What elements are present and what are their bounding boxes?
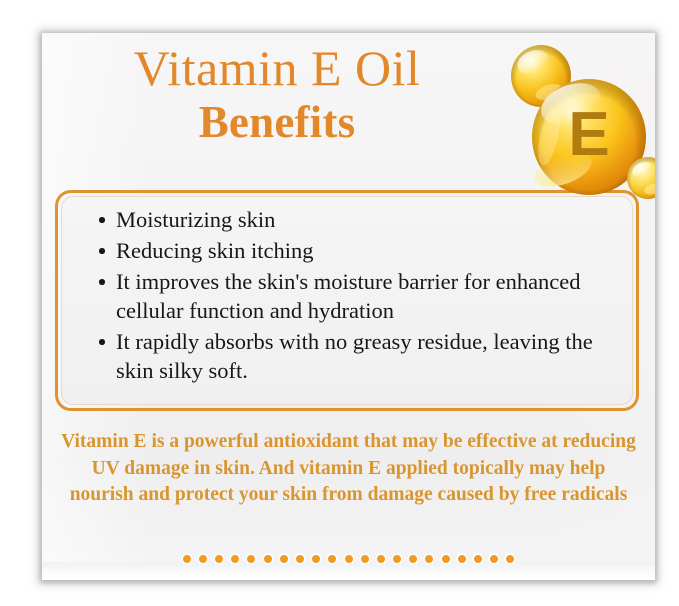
vitamin-e-droplet-icon: E [497,33,655,214]
divider-dot [215,555,223,563]
title-line-secondary: Benefits [42,97,512,147]
poster-title: Vitamin E Oil Benefits [42,39,512,147]
divider-dot [425,555,433,563]
poster-card: Vitamin E Oil Benefits [42,33,655,580]
divider-dot [231,555,239,563]
poster-stage: Vitamin E Oil Benefits [0,0,679,606]
divider-dot [199,555,207,563]
divider-dot [296,555,304,563]
divider-dot [264,555,272,563]
divider-dot [312,555,320,563]
capsule-letter: E [568,100,609,169]
divider-dot [328,555,336,563]
footer-paragraph: Vitamin E is a powerful antioxidant that… [58,429,639,509]
divider-dot [442,555,450,563]
divider-dot [490,555,498,563]
list-item: It rapidly absorbs with no greasy residu… [114,327,618,385]
list-item: It improves the skin's moisture barrier … [114,267,618,325]
divider-dot [458,555,466,563]
title-line-primary: Vitamin E Oil [42,39,512,97]
card-bottom-lip [42,562,655,580]
divider-dot [377,555,385,563]
divider-dot [247,555,255,563]
divider-dot [345,555,353,563]
dot-divider [42,555,655,563]
divider-dot [280,555,288,563]
benefits-list: Moisturizing skin Reducing skin itching … [92,205,618,387]
benefits-box: Moisturizing skin Reducing skin itching … [55,190,639,411]
divider-dot [474,555,482,563]
divider-dot [506,555,514,563]
list-item: Reducing skin itching [114,236,618,265]
divider-dot [183,555,191,563]
divider-dot [361,555,369,563]
divider-dot [409,555,417,563]
divider-dot [393,555,401,563]
